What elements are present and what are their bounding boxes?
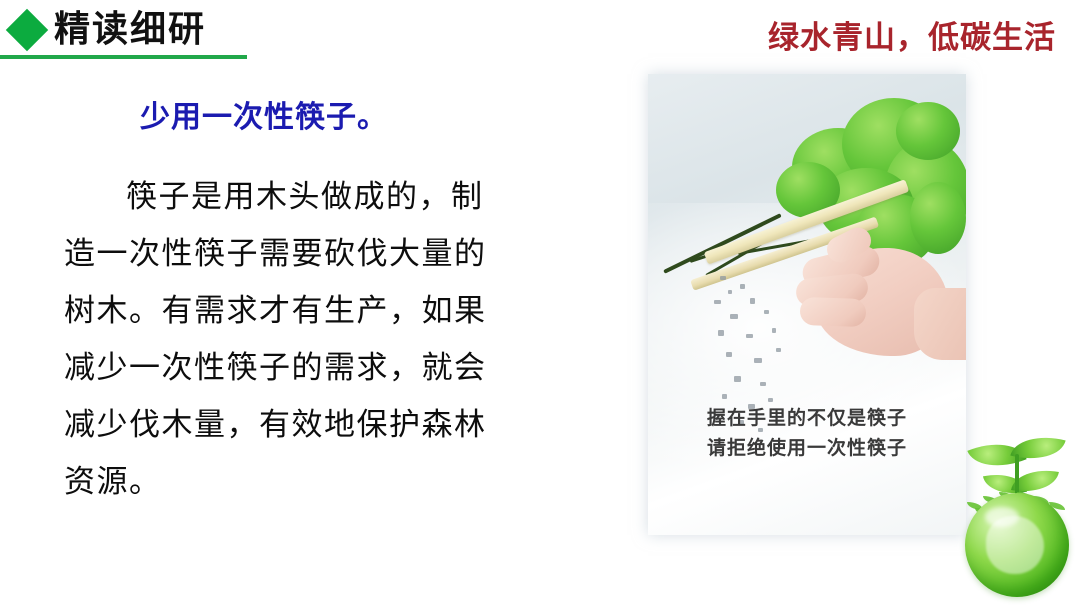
poster-caption: 握在手里的不仅是筷子 请拒绝使用一次性筷子 bbox=[648, 404, 966, 464]
body-line: 减少一次性筷子的需求，就会 bbox=[64, 339, 574, 396]
body-paragraph: 筷子是用木头做成的，制 造一次性筷子需要砍伐大量的 树木。有需求才有生产，如果 … bbox=[64, 168, 574, 510]
header-underline-rule bbox=[0, 55, 247, 59]
body-line: 造一次性筷子需要砍伐大量的 bbox=[64, 225, 574, 282]
body-line: 筷子是用木头做成的，制 bbox=[64, 168, 574, 225]
sub-heading: 少用一次性筷子。 bbox=[140, 92, 388, 136]
poster-caption-line: 请拒绝使用一次性筷子 bbox=[648, 434, 966, 464]
body-line: 树木。有需求才有生产，如果 bbox=[64, 282, 574, 339]
body-line: 资源。 bbox=[64, 453, 574, 510]
body-line: 减少伐木量，有效地保护森林 bbox=[64, 396, 574, 453]
diamond-bullet-icon bbox=[6, 9, 48, 51]
chopsticks-tree-poster: 握在手里的不仅是筷子 请拒绝使用一次性筷子 bbox=[648, 74, 966, 535]
corner-slogan: 绿水青山，低碳生活 bbox=[768, 12, 1056, 57]
green-earth-sprout-logo bbox=[955, 420, 1077, 605]
globe-icon bbox=[965, 493, 1069, 597]
slide-root: 精读细研 绿水青山，低碳生活 少用一次性筷子。 筷子是用木头做成的，制 造一次性… bbox=[0, 0, 1080, 608]
globe-shine bbox=[985, 507, 1019, 527]
page-title: 精读细研 bbox=[54, 5, 206, 53]
poster-caption-line: 握在手里的不仅是筷子 bbox=[648, 404, 966, 434]
